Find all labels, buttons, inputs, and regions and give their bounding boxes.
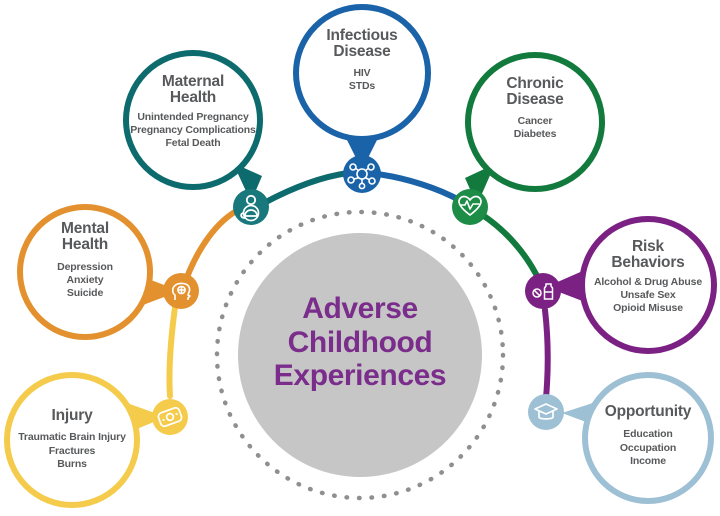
bubble-risk-behaviors[interactable]	[546, 219, 714, 351]
arc-chronic-to-risk	[481, 214, 539, 280]
center-circle	[238, 233, 482, 477]
node-injury[interactable]	[152, 399, 188, 435]
arc-infectious-to-chronic	[377, 174, 461, 201]
aces-infographic: Maternal Health Unintended Pregnancy Pre…	[0, 0, 720, 516]
node-opportunity[interactable]	[528, 394, 564, 430]
arc-injury-to-mental	[169, 300, 176, 396]
bubble-maternal-health[interactable]	[126, 53, 262, 202]
node-mental-health[interactable]	[163, 273, 199, 309]
node-chronic-disease[interactable]	[452, 189, 488, 225]
node-infectious-disease[interactable]	[343, 155, 381, 193]
bubble-infectious-disease[interactable]	[296, 7, 428, 170]
node-risk-behaviors[interactable]	[525, 273, 561, 309]
bubble-opportunity[interactable]	[562, 375, 711, 501]
arc-maternal-to-infectious	[264, 173, 348, 203]
bubble-mental-health[interactable]	[20, 207, 180, 337]
bubble-chronic-disease[interactable]	[465, 55, 602, 205]
arc-risk-to-opportunity	[545, 310, 548, 398]
bubble-injury[interactable]	[7, 375, 166, 505]
node-maternal-health[interactable]	[233, 189, 269, 225]
diagram-canvas	[0, 0, 720, 516]
